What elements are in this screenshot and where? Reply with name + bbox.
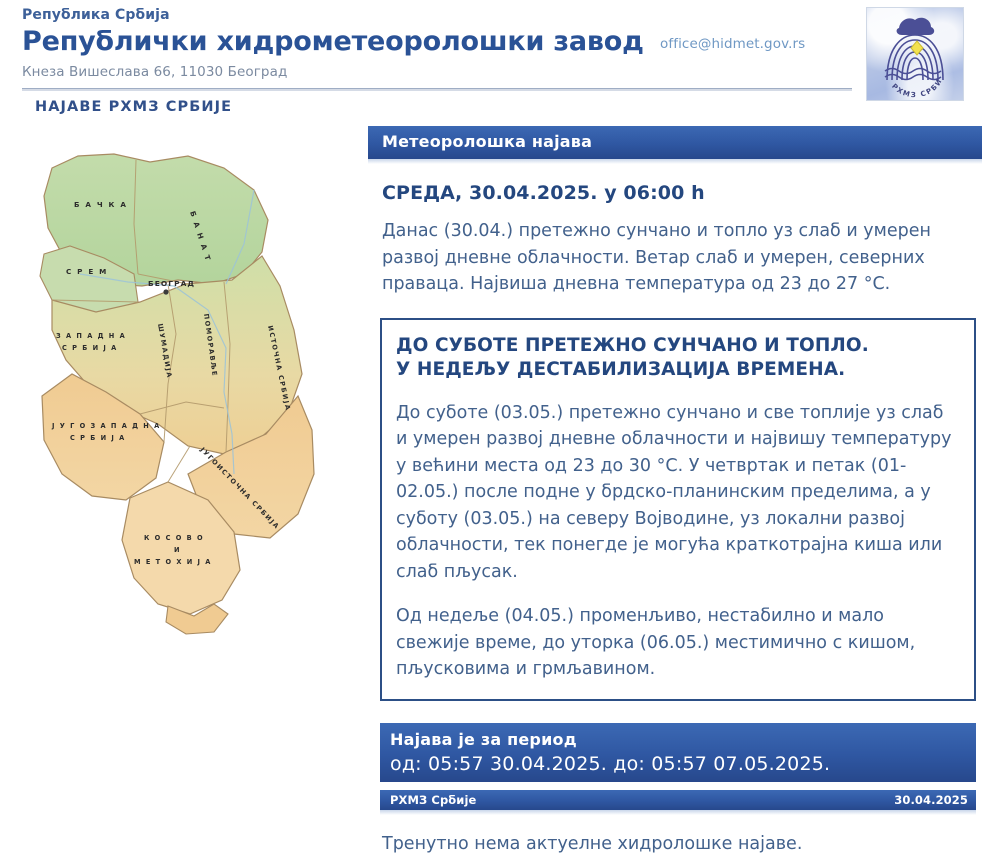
country-name: Република Србија [22,6,644,24]
forecast-intro-text: Данас (30.04.) претежно сунчано и топло … [368,204,982,298]
page-content: Б А Ч К А Б А Н А Т С Р Е М БЕОГРАД З А … [0,126,1000,855]
alert-title-line-2: У НЕДЕЉУ ДЕСТАБИЛИЗАЦИЈА ВРЕМЕНА. [396,358,958,382]
institute-name: Републички хидрометеоролошки завод [22,26,644,58]
panel-title-bar: Метеоролошка најава [368,126,982,159]
map-label-metohija: М Е Т О Х И Ј А [134,558,212,566]
map-label-backa: Б А Ч К А [74,200,128,209]
validity-period-bar: Најава је за период од: 05:57 30.04.2025… [380,723,976,782]
rhmz-logo-icon: РХМЗ СРБИЈЕ [866,7,964,101]
validity-period-range: од: 05:57 30.04.2025. до: 05:57 07.05.20… [390,752,976,777]
map-label-western-serbia-2: С Р Б И Ј А [62,344,118,352]
header-identity: Република Србија Републички хидрометеоро… [22,6,644,82]
map-label-belgrade: БЕОГРАД [148,279,195,288]
forecast-date-heading: СРЕДА, 30.04.2025. у 06:00 h [368,164,982,204]
alert-paragraph-2: Од недеље (04.05.) променљиво, нестабилн… [396,603,958,683]
contact-email[interactable]: office@hidmet.gov.rs [660,36,805,52]
map-label-southwest-serbia: Ј У Г О З А П А Д Н А [51,422,161,430]
source-date: 30.04.2025 [894,793,968,807]
map-label-kosovo-i: И [174,546,181,554]
source-strip: РХМЗ Србије 30.04.2025 [380,790,976,810]
institute-address: Кнеза Вишеслава 66, 11030 Београд [22,62,644,82]
alert-box: ДО СУБОТЕ ПРЕТЕЖНО СУНЧАНО И ТОПЛО. У НЕ… [380,318,976,701]
source-name: РХМЗ Србије [390,793,476,807]
header-divider [22,88,852,91]
site-header: Република Србија Републички хидрометеоро… [0,0,1000,98]
hydrology-note: Тренутно нема актуелне хидролошке најаве… [368,815,982,857]
serbia-regions-map[interactable]: Б А Ч К А Б А Н А Т С Р Е М БЕОГРАД З А … [18,134,354,734]
map-label-srem: С Р Е М [66,267,108,276]
section-label: НАЈАВЕ РХМЗ СРБИЈЕ [35,99,232,115]
forecast-panel: Метеоролошка најава СРЕДА, 30.04.2025. у… [368,126,982,857]
alert-title: ДО СУБОТЕ ПРЕТЕЖНО СУНЧАНО И ТОПЛО. У НЕ… [396,334,958,382]
map-label-southwest-serbia-2: С Р Б И Ј А [70,434,126,442]
validity-period-label: Најава је за период [390,727,976,752]
map-label-western-serbia: З А П А Д Н А [56,332,126,340]
alert-paragraph-1: До суботе (03.05.) претежно сунчано и св… [396,400,958,586]
map-city-marker-belgrade [163,289,168,294]
map-label-kosovo: К О С О В О [144,534,204,542]
alert-title-line-1: ДО СУБОТЕ ПРЕТЕЖНО СУНЧАНО И ТОПЛО. [396,334,958,358]
